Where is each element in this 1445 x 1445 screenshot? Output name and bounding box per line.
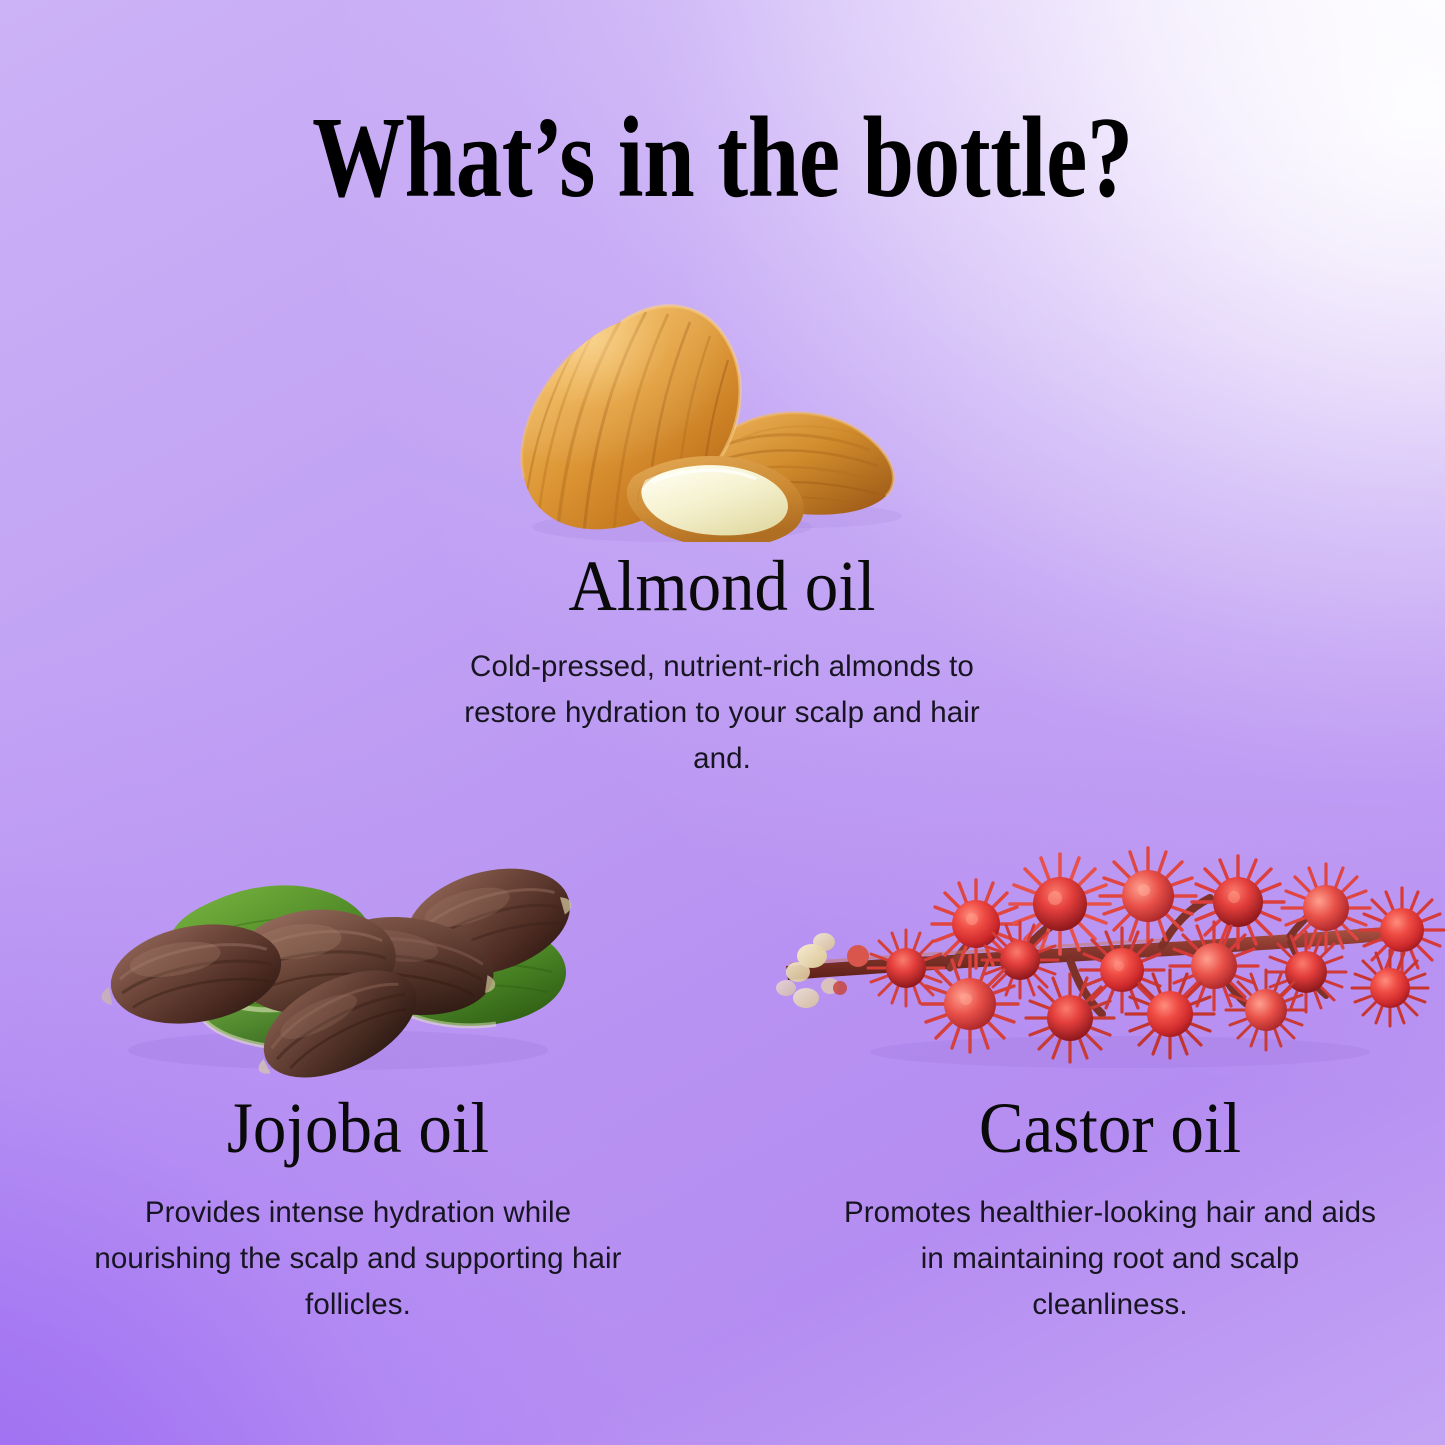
ingredient-card-jojoba: Jojoba oil Provides intense hydration wh… bbox=[18, 838, 698, 1328]
page-title: What’s in the bottle? bbox=[145, 100, 1301, 216]
ingredient-name-jojoba: Jojoba oil bbox=[42, 1092, 674, 1164]
ingredient-description-jojoba: Provides intense hydration while nourish… bbox=[88, 1190, 628, 1328]
jojoba-illustration bbox=[18, 838, 698, 1078]
ingredient-name-castor: Castor oil bbox=[794, 1092, 1426, 1164]
almond-illustration bbox=[372, 280, 1072, 542]
almond-image bbox=[372, 280, 1072, 542]
castor-image bbox=[770, 838, 1445, 1078]
jojoba-image bbox=[18, 838, 698, 1078]
ingredient-card-castor: Castor oil Promotes healthier-looking ha… bbox=[770, 838, 1445, 1328]
ingredient-poster: What’s in the bottle? bbox=[0, 0, 1445, 1445]
ingredient-description-castor: Promotes healthier-looking hair and aids… bbox=[840, 1190, 1380, 1328]
ingredient-name-almond: Almond oil bbox=[397, 550, 1048, 622]
castor-illustration bbox=[770, 838, 1445, 1078]
ingredient-card-almond: Almond oil Cold-pressed, nutrient-rich a… bbox=[372, 280, 1072, 782]
ingredient-description-almond: Cold-pressed, nutrient-rich almonds to r… bbox=[442, 644, 1002, 782]
